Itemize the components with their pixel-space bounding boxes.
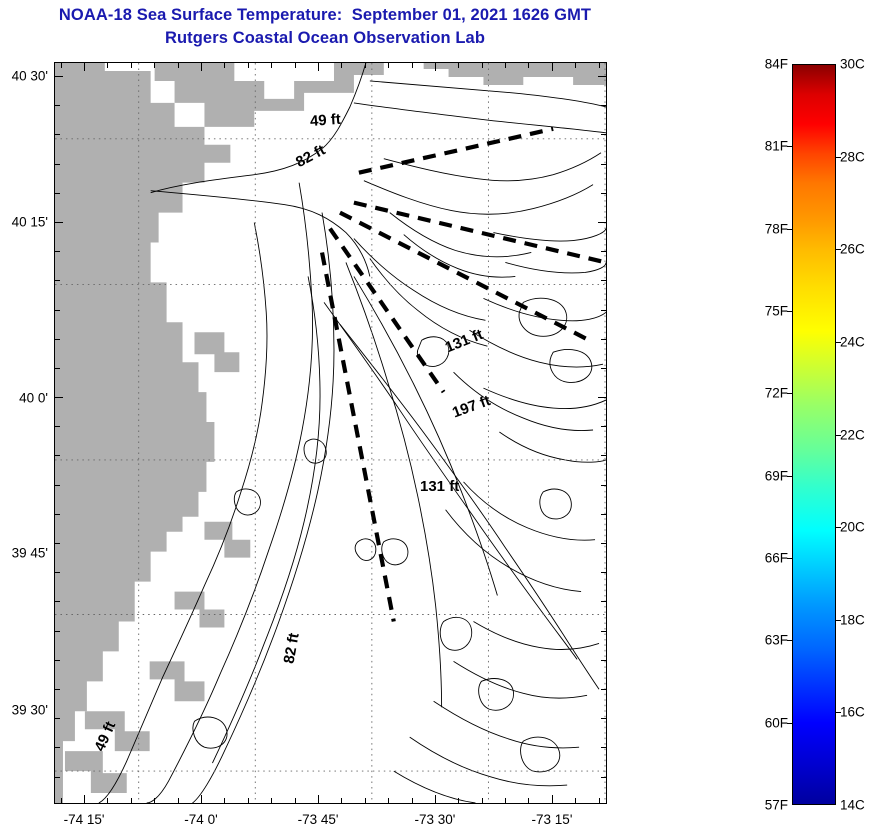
map-canvas <box>55 63 606 803</box>
y-tick <box>54 193 60 194</box>
y-tick-right <box>598 397 607 398</box>
x-tick-top <box>435 62 436 71</box>
colorbar-tick <box>835 527 841 528</box>
colorbar-tick <box>787 146 793 147</box>
colorbar-tick <box>835 620 841 621</box>
x-tick <box>552 795 553 804</box>
colorbar-label-celsius: 30C <box>840 57 865 72</box>
y-tick-right <box>601 310 607 311</box>
y-tick <box>54 222 63 223</box>
x-tick-top <box>552 62 553 71</box>
colorbar-tick <box>787 558 793 559</box>
colorbar-tick <box>835 712 841 713</box>
y-tick <box>54 689 60 690</box>
x-tick-top <box>528 62 529 68</box>
y-tick-right <box>601 485 607 486</box>
x-tick <box>458 798 459 804</box>
y-tick <box>54 105 60 106</box>
y-tick <box>54 485 60 486</box>
x-tick-top <box>107 62 108 68</box>
x-tick-top <box>224 62 225 68</box>
y-tick <box>54 572 60 573</box>
colorbar-tick <box>787 640 793 641</box>
x-tick-top <box>505 62 506 68</box>
colorbar-label-celsius: 28C <box>840 149 865 164</box>
y-tick-right <box>601 514 607 515</box>
x-axis-label: -73 45' <box>298 812 339 827</box>
y-tick <box>54 455 60 456</box>
x-tick <box>388 798 389 804</box>
x-tick-top <box>365 62 366 68</box>
colorbar-label-fahrenheit: 60F <box>765 715 788 730</box>
y-tick <box>54 777 60 778</box>
y-tick-right <box>601 280 607 281</box>
y-tick <box>54 426 60 427</box>
y-tick <box>54 368 60 369</box>
y-tick <box>54 397 63 398</box>
y-tick-right <box>601 455 607 456</box>
y-tick <box>54 631 60 632</box>
colorbar-label-celsius: 22C <box>840 427 865 442</box>
x-tick <box>201 795 202 804</box>
x-tick-top <box>61 62 62 68</box>
y-tick-right <box>601 251 607 252</box>
x-tick <box>528 798 529 804</box>
y-tick-right <box>601 718 607 719</box>
y-tick-right <box>601 747 607 748</box>
y-tick <box>54 280 60 281</box>
depth-contour-label: 131 ft <box>420 478 459 495</box>
y-axis-label: 40 15' <box>12 214 48 229</box>
y-tick-right <box>601 777 607 778</box>
x-tick-top <box>412 62 413 68</box>
y-tick-right <box>601 660 607 661</box>
y-tick <box>54 164 60 165</box>
x-tick-top <box>458 62 459 68</box>
x-tick-top <box>178 62 179 68</box>
y-tick <box>54 339 60 340</box>
x-tick <box>435 795 436 804</box>
y-tick-right <box>601 689 607 690</box>
colorbar-label-fahrenheit: 63F <box>765 633 788 648</box>
y-tick-right <box>601 134 607 135</box>
x-tick-top <box>84 62 85 71</box>
colorbar-label-celsius: 26C <box>840 242 865 257</box>
colorbar-tick <box>787 311 793 312</box>
colorbar-gradient <box>792 64 836 805</box>
y-tick <box>54 601 60 602</box>
x-tick-top <box>154 62 155 68</box>
x-axis-label: -74 0' <box>184 812 217 827</box>
x-tick <box>412 798 413 804</box>
x-axis-label: -74 15' <box>64 812 105 827</box>
y-axis-label: 40 0' <box>19 390 48 405</box>
y-tick-right <box>601 543 607 544</box>
colorbar-label-fahrenheit: 81F <box>765 139 788 154</box>
y-tick <box>54 543 60 544</box>
y-tick <box>54 134 60 135</box>
y-tick-right <box>601 105 607 106</box>
x-tick <box>341 798 342 804</box>
x-tick <box>154 798 155 804</box>
y-tick-right <box>601 193 607 194</box>
x-tick <box>131 798 132 804</box>
x-tick <box>61 798 62 804</box>
y-tick <box>54 718 60 719</box>
x-tick <box>271 798 272 804</box>
depth-contour-label: 49 ft <box>309 111 341 130</box>
colorbar-tick <box>835 157 841 158</box>
x-tick <box>224 798 225 804</box>
colorbar-tick <box>787 229 793 230</box>
colorbar-label-fahrenheit: 75F <box>765 304 788 319</box>
x-tick <box>107 798 108 804</box>
x-tick <box>365 798 366 804</box>
x-tick <box>178 798 179 804</box>
y-axis-label: 40 30' <box>12 69 48 84</box>
x-tick <box>318 795 319 804</box>
y-tick-right <box>601 572 607 573</box>
y-tick <box>54 747 60 748</box>
colorbar-label-celsius: 14C <box>840 798 865 813</box>
y-tick <box>54 76 63 77</box>
title-line-1: NOAA-18 Sea Surface Temperature: Septemb… <box>0 4 650 27</box>
colorbar-label-fahrenheit: 72F <box>765 386 788 401</box>
sst-map[interactable] <box>54 62 607 804</box>
colorbar-tick <box>835 342 841 343</box>
y-tick-right <box>601 631 607 632</box>
colorbar-tick <box>787 476 793 477</box>
colorbar-label-celsius: 20C <box>840 520 865 535</box>
title-line-2: Rutgers Coastal Ocean Observation Lab <box>0 27 650 50</box>
x-tick <box>599 798 600 804</box>
y-tick-right <box>601 164 607 165</box>
x-tick-top <box>271 62 272 68</box>
colorbar[interactable]: 84F81F78F75F72F69F66F63F60F57F30C28C26C2… <box>792 64 836 805</box>
x-tick <box>295 798 296 804</box>
x-axis-label: -73 30' <box>415 812 456 827</box>
y-tick-right <box>601 368 607 369</box>
x-tick <box>84 795 85 804</box>
x-tick-top <box>599 62 600 68</box>
y-tick <box>54 514 60 515</box>
colorbar-label-fahrenheit: 57F <box>765 798 788 813</box>
colorbar-tick <box>835 435 841 436</box>
colorbar-tick <box>835 249 841 250</box>
y-tick-right <box>601 601 607 602</box>
x-tick-top <box>341 62 342 68</box>
y-tick-right <box>598 222 607 223</box>
colorbar-tick <box>787 723 793 724</box>
x-tick-top <box>482 62 483 68</box>
x-tick <box>248 798 249 804</box>
colorbar-label-fahrenheit: 69F <box>765 468 788 483</box>
y-axis-label: 39 45' <box>12 545 48 560</box>
chart-title: NOAA-18 Sea Surface Temperature: Septemb… <box>0 4 650 50</box>
x-tick <box>505 798 506 804</box>
x-tick-top <box>318 62 319 71</box>
y-tick <box>54 660 60 661</box>
x-tick-top <box>248 62 249 68</box>
colorbar-label-celsius: 24C <box>840 334 865 349</box>
y-tick-right <box>601 426 607 427</box>
colorbar-label-fahrenheit: 84F <box>765 57 788 72</box>
y-tick <box>54 310 60 311</box>
x-tick-top <box>295 62 296 68</box>
x-axis-label: -73 15' <box>532 812 573 827</box>
y-tick-right <box>601 339 607 340</box>
colorbar-label-celsius: 18C <box>840 612 865 627</box>
colorbar-label-fahrenheit: 66F <box>765 551 788 566</box>
x-tick-top <box>388 62 389 68</box>
x-tick-top <box>575 62 576 68</box>
y-tick-right <box>598 76 607 77</box>
colorbar-label-fahrenheit: 78F <box>765 221 788 236</box>
colorbar-label-celsius: 16C <box>840 705 865 720</box>
x-tick <box>482 798 483 804</box>
x-tick-top <box>131 62 132 68</box>
x-tick <box>575 798 576 804</box>
colorbar-tick <box>787 393 793 394</box>
y-tick <box>54 251 60 252</box>
x-tick-top <box>201 62 202 71</box>
y-axis-label: 39 30' <box>12 702 48 717</box>
